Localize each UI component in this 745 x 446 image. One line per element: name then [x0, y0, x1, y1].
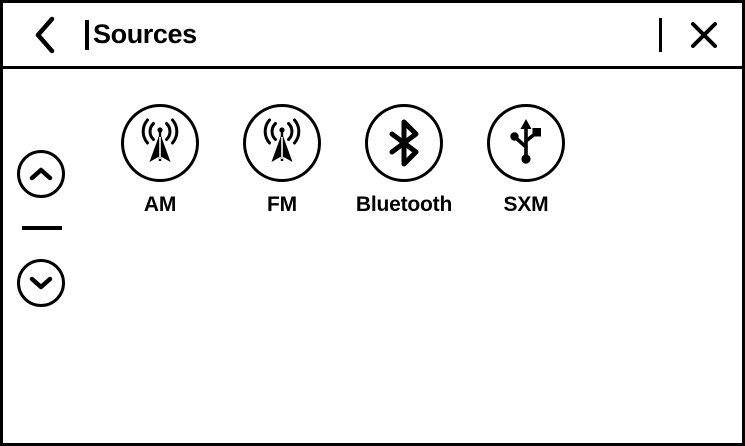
source-label: AM	[144, 193, 176, 217]
source-label: FM	[267, 193, 297, 217]
scroll-rail	[17, 150, 67, 307]
bluetooth-icon	[379, 118, 429, 168]
radio-tower-icon	[132, 115, 188, 171]
source-item-fm[interactable]: FM	[221, 104, 343, 217]
source-list: AM	[99, 104, 587, 217]
chevron-left-icon	[32, 16, 58, 54]
scroll-down-button[interactable]	[17, 259, 65, 307]
source-item-am[interactable]: AM	[99, 104, 221, 217]
scroll-up-button[interactable]	[17, 150, 65, 198]
source-item-sxm[interactable]: SXM	[465, 104, 587, 217]
close-x-icon	[688, 19, 720, 51]
source-label: SXM	[504, 193, 549, 217]
close-button[interactable]	[684, 15, 724, 55]
title-bar-divider	[85, 20, 89, 50]
sources-body: AM	[3, 72, 742, 443]
chevron-up-icon	[28, 165, 54, 183]
page-title-group: Sources	[85, 15, 197, 55]
source-label: Bluetooth	[356, 193, 452, 217]
header-bar: Sources	[3, 3, 742, 69]
source-item-bluetooth[interactable]: Bluetooth	[343, 104, 465, 217]
source-icon-circle	[365, 104, 443, 182]
usb-icon	[501, 117, 551, 169]
sources-screen: Sources	[0, 0, 745, 446]
source-icon-circle	[121, 104, 199, 182]
back-button[interactable]	[17, 7, 73, 63]
page-title: Sources	[93, 21, 197, 48]
source-icon-circle	[487, 104, 565, 182]
horizontal-divider	[22, 226, 62, 230]
vertical-bar-divider	[659, 18, 662, 52]
radio-tower-icon	[254, 115, 310, 171]
chevron-down-icon	[28, 274, 54, 292]
header-actions	[659, 3, 742, 66]
source-icon-circle	[243, 104, 321, 182]
